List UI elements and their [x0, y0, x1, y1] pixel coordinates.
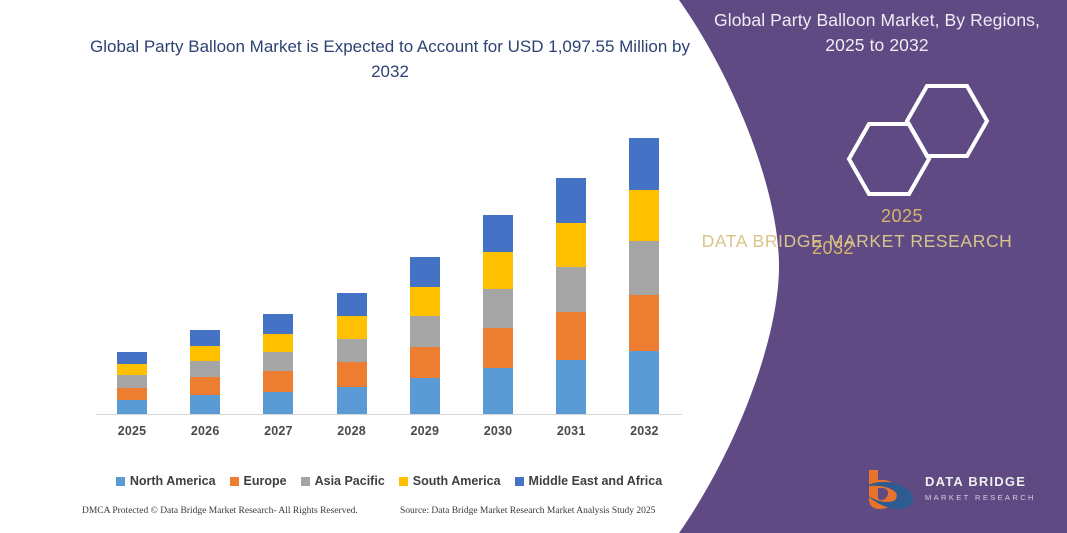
- bar-segment-2026-asia-pacific: [190, 361, 220, 377]
- legend-label: South America: [413, 474, 501, 488]
- bar-segment-2027-asia-pacific: [263, 352, 293, 371]
- legend-label: North America: [130, 474, 216, 488]
- legend-swatch-icon: [116, 477, 125, 486]
- bar-segment-2028-north-america: [337, 387, 367, 414]
- bar-2027[interactable]: [263, 314, 293, 414]
- bar-segment-2026-europe: [190, 377, 220, 394]
- stacked-bar-chart: [96, 120, 682, 415]
- bar-2030[interactable]: [483, 215, 513, 414]
- bar-segment-2029-middle-east-and-africa: [410, 257, 440, 287]
- legend-swatch-icon: [399, 477, 408, 486]
- bar-segment-2030-europe: [483, 328, 513, 369]
- hexagon-years: 2025 2032: [747, 80, 1047, 205]
- logo-secondary-text: MARKET RESEARCH: [925, 493, 1036, 502]
- bar-segment-2028-europe: [337, 362, 367, 386]
- legend-swatch-icon: [515, 477, 524, 486]
- infographic-root: Global Party Balloon Market is Expected …: [0, 0, 1067, 533]
- bar-segment-2026-north-america: [190, 395, 220, 414]
- page-title: Global Party Balloon Market is Expected …: [80, 34, 700, 84]
- bar-segment-2028-asia-pacific: [337, 339, 367, 362]
- bar-segment-2027-north-america: [263, 392, 293, 414]
- footer-copyright: DMCA Protected © Data Bridge Market Rese…: [82, 506, 358, 516]
- footer-source: Source: Data Bridge Market Research Mark…: [400, 506, 655, 516]
- bar-segment-2029-north-america: [410, 378, 440, 414]
- panel-title: Global Party Balloon Market, By Regions,…: [707, 8, 1047, 58]
- bar-segment-2031-europe: [556, 312, 586, 360]
- bar-2031[interactable]: [556, 178, 586, 414]
- x-axis-label-2030: 2030: [468, 424, 528, 438]
- x-axis-label-2028: 2028: [322, 424, 382, 438]
- bar-segment-2028-middle-east-and-africa: [337, 293, 367, 316]
- legend-item-south-america[interactable]: South America: [399, 474, 501, 488]
- bar-segment-2029-south-america: [410, 287, 440, 317]
- bar-2028[interactable]: [337, 293, 367, 414]
- bar-segment-2028-south-america: [337, 316, 367, 338]
- hexagon-2032-icon: [849, 124, 929, 194]
- logo-primary-text: DATA BRIDGE: [925, 474, 1026, 489]
- bar-segment-2025-europe: [117, 388, 147, 400]
- bar-2025[interactable]: [117, 352, 147, 414]
- bar-2026[interactable]: [190, 330, 220, 414]
- brand-panel: Global Party Balloon Market, By Regions,…: [647, 0, 1067, 533]
- bar-segment-2025-asia-pacific: [117, 375, 147, 387]
- bar-segment-2026-middle-east-and-africa: [190, 330, 220, 346]
- x-axis-label-2026: 2026: [175, 424, 235, 438]
- legend-swatch-icon: [230, 477, 239, 486]
- bar-segment-2025-south-america: [117, 364, 147, 375]
- hexagon-2025-label: 2025: [881, 206, 923, 227]
- legend-item-middle-east-and-africa[interactable]: Middle East and Africa: [515, 474, 663, 488]
- legend-label: Middle East and Africa: [529, 474, 663, 488]
- x-axis-label-2031: 2031: [541, 424, 601, 438]
- bar-segment-2030-asia-pacific: [483, 289, 513, 328]
- legend-item-asia-pacific[interactable]: Asia Pacific: [301, 474, 385, 488]
- bar-segment-2027-middle-east-and-africa: [263, 314, 293, 333]
- bar-segment-2030-middle-east-and-africa: [483, 215, 513, 253]
- bar-segment-2030-north-america: [483, 368, 513, 414]
- bar-segment-2027-south-america: [263, 334, 293, 352]
- bar-segment-2029-europe: [410, 347, 440, 379]
- logo-mark-icon: DATA BRIDGE MARKET RESEARCH: [857, 466, 1047, 512]
- bar-segment-2031-north-america: [556, 360, 586, 414]
- x-axis-labels: 20252026202720282029203020312032: [96, 424, 682, 442]
- x-axis-line: [96, 414, 682, 415]
- bar-segment-2025-middle-east-and-africa: [117, 352, 147, 364]
- brand-name: DATA BRIDGE MARKET RESEARCH: [687, 228, 1027, 254]
- x-axis-label-2027: 2027: [248, 424, 308, 438]
- hexagon-icons: [747, 80, 1047, 205]
- legend-label: Europe: [244, 474, 287, 488]
- bar-segment-2029-asia-pacific: [410, 316, 440, 347]
- legend-item-north-america[interactable]: North America: [116, 474, 216, 488]
- footer: DMCA Protected © Data Bridge Market Rese…: [82, 506, 682, 522]
- bar-segment-2026-south-america: [190, 346, 220, 361]
- legend-label: Asia Pacific: [315, 474, 385, 488]
- x-axis-label-2029: 2029: [395, 424, 455, 438]
- bar-2029[interactable]: [410, 257, 440, 414]
- bar-segment-2031-south-america: [556, 223, 586, 267]
- bar-segment-2031-asia-pacific: [556, 267, 586, 313]
- bar-segment-2027-europe: [263, 371, 293, 391]
- bar-segment-2030-south-america: [483, 252, 513, 289]
- legend-swatch-icon: [301, 477, 310, 486]
- bar-segment-2025-north-america: [117, 400, 147, 414]
- x-axis-label-2025: 2025: [102, 424, 162, 438]
- bar-segment-2031-middle-east-and-africa: [556, 178, 586, 223]
- legend-item-europe[interactable]: Europe: [230, 474, 287, 488]
- chart-legend: North AmericaEuropeAsia PacificSouth Ame…: [96, 472, 682, 490]
- data-bridge-logo: DATA BRIDGE MARKET RESEARCH: [857, 466, 1047, 512]
